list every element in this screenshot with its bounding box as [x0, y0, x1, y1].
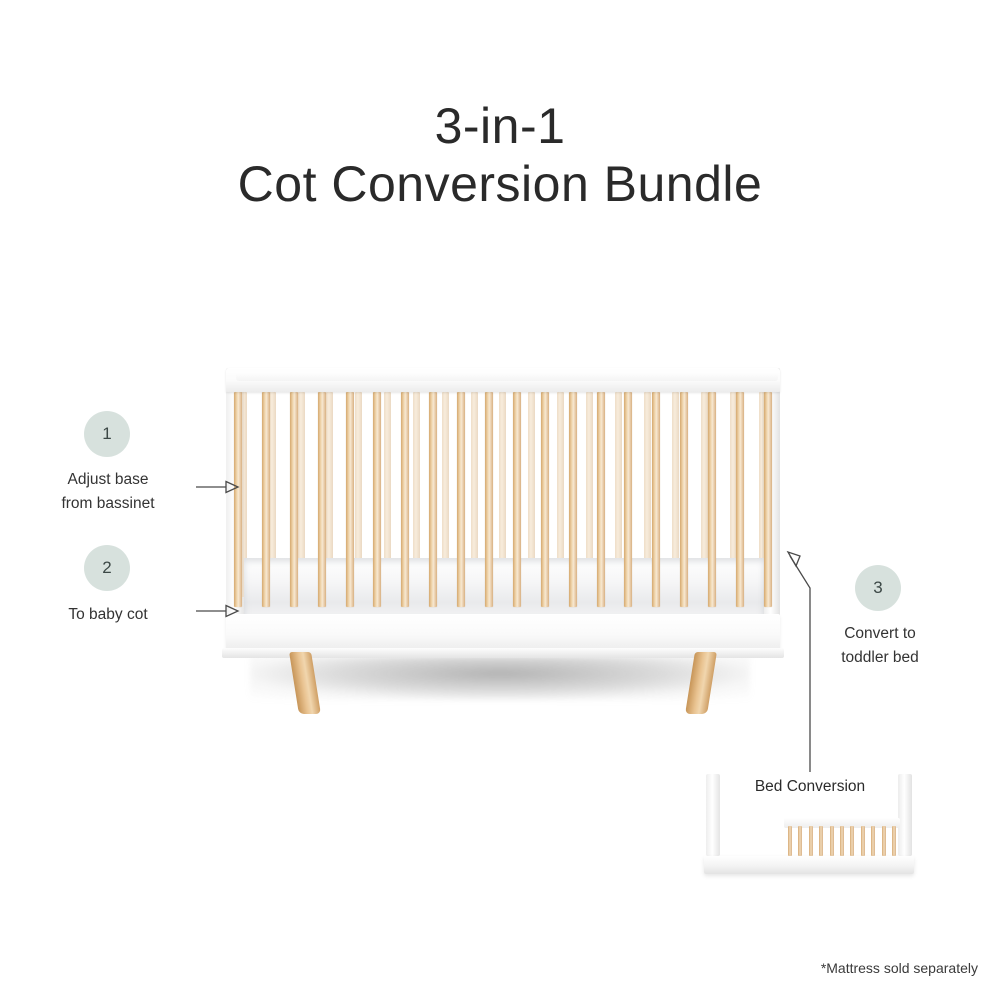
cot-slat — [708, 392, 716, 607]
callout-badge-number: 3 — [873, 578, 882, 598]
cot-slat — [680, 392, 688, 607]
bed-conversion-slat — [861, 826, 865, 856]
cot-slat — [290, 392, 298, 607]
bed-conversion-slat — [830, 826, 834, 856]
title-line-2: Cot Conversion Bundle — [0, 155, 1000, 214]
footnote: *Mattress sold separately — [821, 960, 978, 976]
bed-conversion-slat — [871, 826, 875, 856]
cot-slat — [457, 392, 465, 607]
page-title: 3-in-1 Cot Conversion Bundle — [0, 100, 1000, 214]
cot-illustration — [222, 360, 788, 730]
bed-conversion-platform — [704, 856, 914, 874]
callout-badge-number: 2 — [102, 558, 111, 578]
bed-conversion-slat — [809, 826, 813, 856]
callout-badge-2: 2 — [84, 545, 130, 591]
callout-arrow-3 — [780, 550, 840, 775]
cot-slat — [513, 392, 521, 607]
title-line-1: 3-in-1 — [0, 100, 1000, 153]
callout-arrow-2 — [196, 602, 240, 620]
cot-slat — [597, 392, 605, 607]
cot-base-panel — [226, 614, 780, 652]
cot-top-rail — [226, 368, 780, 392]
bed-conversion-label: Bed Conversion — [700, 778, 920, 796]
cot-slats-front-row — [234, 392, 772, 607]
cot-slat — [569, 392, 577, 607]
bed-conversion-slat — [850, 826, 854, 856]
bed-conversion-slat — [819, 826, 823, 856]
bed-conversion-slats — [788, 826, 896, 856]
cot-slat — [736, 392, 744, 607]
cot-slat — [318, 392, 326, 607]
cot-slat — [652, 392, 660, 607]
bed-conversion-slat — [798, 826, 802, 856]
cot-slat — [401, 392, 409, 607]
bed-conversion-slat — [882, 826, 886, 856]
cot-shadow — [250, 656, 750, 700]
callout-badge-3: 3 — [855, 565, 901, 611]
cot-slat — [262, 392, 270, 607]
callout-label-1: Adjust base from bassinet — [18, 468, 198, 516]
bed-conversion-slat — [840, 826, 844, 856]
cot-slat — [234, 392, 242, 607]
cot-top-rail-cap — [236, 372, 778, 381]
cot-slat — [485, 392, 493, 607]
cot-slat — [373, 392, 381, 607]
cot-slat — [624, 392, 632, 607]
cot-slat — [764, 392, 772, 607]
cot-slat — [429, 392, 437, 607]
callout-arrow-1 — [196, 478, 240, 496]
callout-badge-number: 1 — [102, 424, 111, 444]
bed-conversion-slat — [788, 826, 792, 856]
callout-badge-1: 1 — [84, 411, 130, 457]
cot-slat — [541, 392, 549, 607]
callout-label-2: To baby cot — [18, 603, 198, 627]
cot-slat — [346, 392, 354, 607]
bed-conversion-slat — [892, 826, 896, 856]
